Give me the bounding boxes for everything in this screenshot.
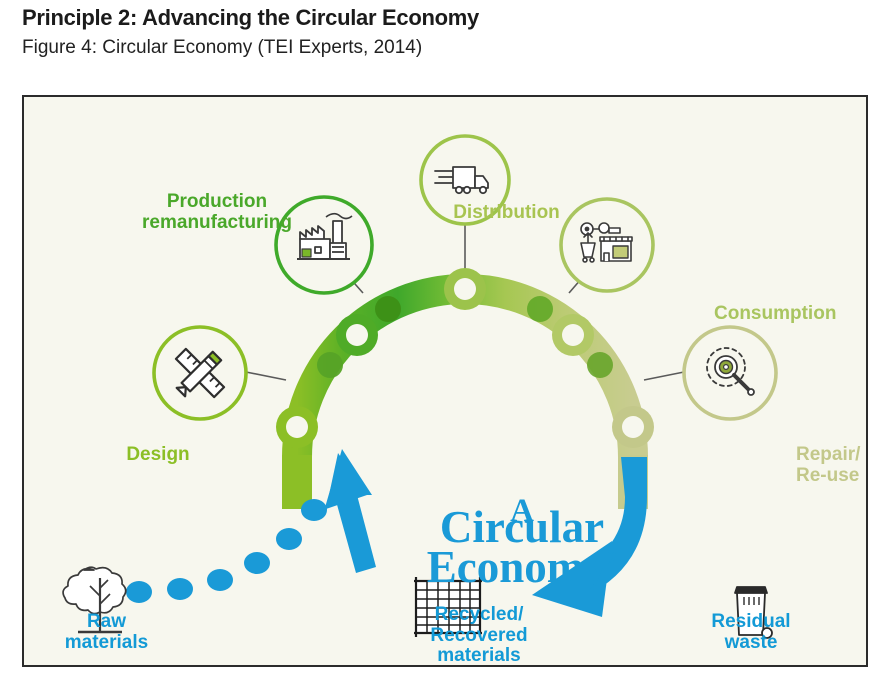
heading-block: Principle 2: Advancing the Circular Econ… bbox=[22, 4, 872, 61]
stage-consumption[interactable] bbox=[561, 199, 653, 291]
stage-production[interactable] bbox=[276, 197, 372, 293]
recycle-up-arrow bbox=[324, 449, 376, 573]
pallet-stack-icon bbox=[414, 577, 482, 637]
page-title: Principle 2: Advancing the Circular Econ… bbox=[22, 4, 872, 32]
arc-node-production bbox=[336, 314, 378, 356]
figure-panel: Production remanufacturing Design Distri… bbox=[22, 95, 868, 667]
raw-materials-dot-trail bbox=[126, 499, 327, 603]
waste-bin-icon bbox=[735, 587, 772, 638]
arc-node-design bbox=[276, 406, 318, 448]
arc-node-distribution bbox=[444, 268, 486, 310]
residual-waste-down-arrow bbox=[532, 457, 647, 617]
arc-node-consumption bbox=[552, 314, 594, 356]
arc-node-repair bbox=[612, 406, 654, 448]
stage-design[interactable] bbox=[154, 327, 246, 419]
stage-repair[interactable] bbox=[684, 327, 776, 419]
figure-caption: Figure 4: Circular Economy (TEI Experts,… bbox=[22, 35, 872, 61]
figure-page: Principle 2: Advancing the Circular Econ… bbox=[0, 0, 894, 690]
circular-economy-diagram bbox=[24, 97, 866, 665]
stage-distribution[interactable] bbox=[421, 136, 509, 224]
tree-icon bbox=[63, 567, 126, 632]
